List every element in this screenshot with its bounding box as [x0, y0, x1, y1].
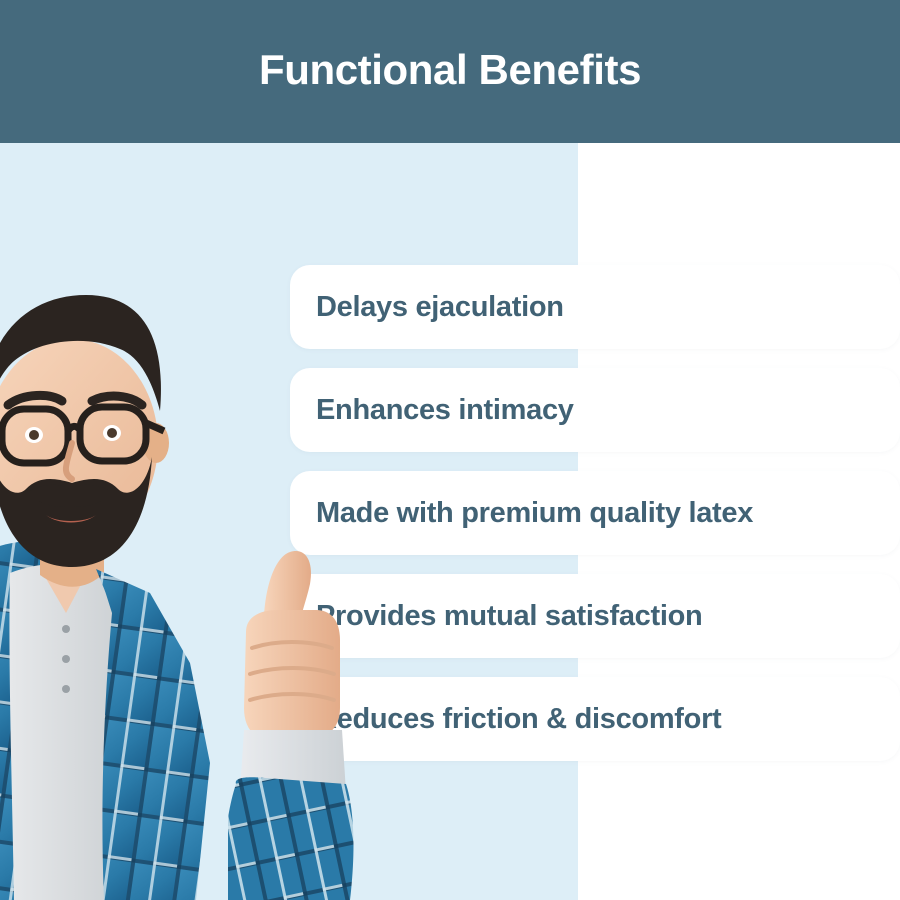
benefit-card[interactable]: Enhances intimacy	[290, 368, 900, 452]
page-title: Functional Benefits	[259, 49, 641, 95]
benefits-list: Delays ejaculation Enhances intimacy Mad…	[290, 265, 900, 780]
benefit-card[interactable]: Reduces friction & discomfort	[290, 677, 900, 761]
benefit-card[interactable]: Made with premium quality latex	[290, 471, 900, 555]
benefit-label: Reduces friction & discomfort	[316, 705, 721, 734]
infographic-canvas: Functional Benefits Delays ejaculation E…	[0, 0, 900, 900]
header-band: Functional Benefits	[0, 0, 900, 143]
benefit-label: Delays ejaculation	[316, 293, 564, 322]
benefit-label: Provides mutual satisfaction	[316, 602, 702, 631]
benefit-card[interactable]: Delays ejaculation	[290, 265, 900, 349]
benefit-label: Enhances intimacy	[316, 396, 574, 425]
benefit-card[interactable]: Provides mutual satisfaction	[290, 574, 900, 658]
benefit-label: Made with premium quality latex	[316, 499, 753, 528]
